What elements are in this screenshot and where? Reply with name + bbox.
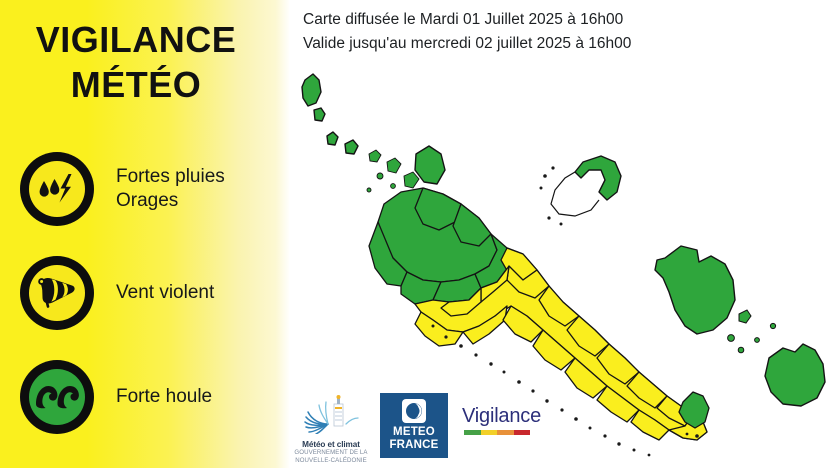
level-swatch-green	[464, 430, 481, 435]
legend-label-line1: Fortes pluies	[116, 165, 225, 189]
level-swatch-red	[514, 430, 531, 435]
vigilance-wordmark: Vigilance	[462, 406, 540, 426]
map-island-mare	[765, 344, 825, 406]
legend-label-line2: Orages	[116, 189, 225, 213]
map-island-offshore-green	[415, 146, 445, 184]
legend-item-strong-wind: Vent violent	[20, 256, 282, 330]
legend-item-label: Forte houle	[116, 385, 212, 409]
legend-item-heavy-rain-storms: Fortes pluies Orages	[20, 152, 282, 226]
nc-emblem-icon	[290, 394, 372, 434]
map-ouvea-islets	[540, 166, 563, 225]
meteo-france-line2: FRANCE	[389, 439, 438, 452]
vigilance-level-colorbar	[464, 430, 530, 435]
map-ouvea-lagoon-outline	[551, 172, 599, 216]
meteo-france-wordmark: METEO FRANCE	[389, 426, 438, 452]
meteo-france-logo: METEO FRANCE	[380, 393, 448, 458]
bulletin-validity-text: Carte diffusée le Mardi 01 Juillet 2025 …	[303, 8, 631, 56]
vigilance-logo: Vigilance	[462, 406, 540, 435]
meteo-france-line1: METEO	[389, 426, 438, 439]
page-title-line2: MÉTÉO	[0, 63, 272, 108]
swell-waves-icon	[20, 360, 94, 434]
map-islands-belep	[302, 74, 358, 154]
legend-item-label: Vent violent	[116, 281, 214, 305]
page-title-line1: VIGILANCE	[36, 19, 237, 60]
level-swatch-orange	[497, 430, 514, 435]
legend-panel: VIGILANCE MÉTÉO Fortes pluies Orages	[0, 0, 290, 468]
level-swatch-yellow	[481, 430, 498, 435]
meteo-france-mark-icon	[402, 399, 426, 423]
windsock-icon	[20, 256, 94, 330]
legend-item-heavy-swell: Forte houle	[20, 360, 282, 434]
legend-label-line1: Forte houle	[116, 385, 212, 409]
gov-logo-line3: NOUVELLE-CALÉDONIE	[290, 457, 372, 465]
gov-nouvelle-caledonie-logo: Météo et climat GOUVERNEMENT DE LA NOUVE…	[290, 394, 372, 465]
logo-bar: Météo et climat GOUVERNEMENT DE LA NOUVE…	[290, 392, 540, 466]
map-island-lifou	[655, 246, 735, 334]
legend-label-line1: Vent violent	[116, 281, 214, 305]
valid-until-line: Valide jusqu'au mercredi 02 juillet 2025…	[303, 32, 631, 56]
map-islets-nw	[367, 150, 419, 192]
legend-item-label: Fortes pluies Orages	[116, 165, 225, 214]
issued-date-line: Carte diffusée le Mardi 01 Juillet 2025 …	[303, 8, 631, 32]
gov-logo-line2: GOUVERNEMENT DE LA	[290, 449, 372, 457]
map-island-ouvea	[575, 156, 621, 200]
page-title: VIGILANCE MÉTÉO	[0, 18, 272, 107]
rain-storm-icon	[20, 152, 94, 226]
vigilance-weather-bulletin: VIGILANCE MÉTÉO Fortes pluies Orages	[0, 0, 835, 468]
map-islets-loyalty	[728, 310, 776, 353]
gov-logo-line1: Météo et climat	[290, 440, 372, 449]
